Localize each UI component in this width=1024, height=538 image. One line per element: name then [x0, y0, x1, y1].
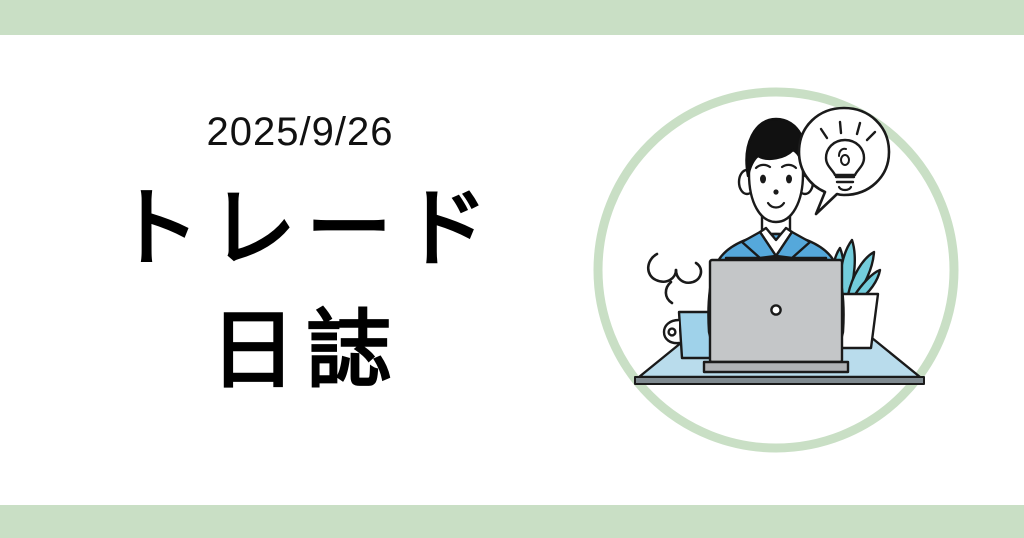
thought-bubble: [799, 108, 889, 214]
date-label: 2025/9/26: [60, 110, 540, 154]
page-canvas: 2025/9/26 トレード 日誌: [0, 0, 1024, 538]
title-text-block: 2025/9/26 トレード 日誌: [60, 110, 540, 412]
top-green-band: [0, 0, 1024, 35]
laptop: [704, 260, 848, 372]
steam-icon: [648, 254, 701, 303]
page-title-line-1: トレード: [60, 168, 540, 290]
page-title-line-2: 日誌: [60, 290, 540, 412]
illustration: [590, 82, 962, 460]
bottom-green-band: [0, 505, 1024, 538]
